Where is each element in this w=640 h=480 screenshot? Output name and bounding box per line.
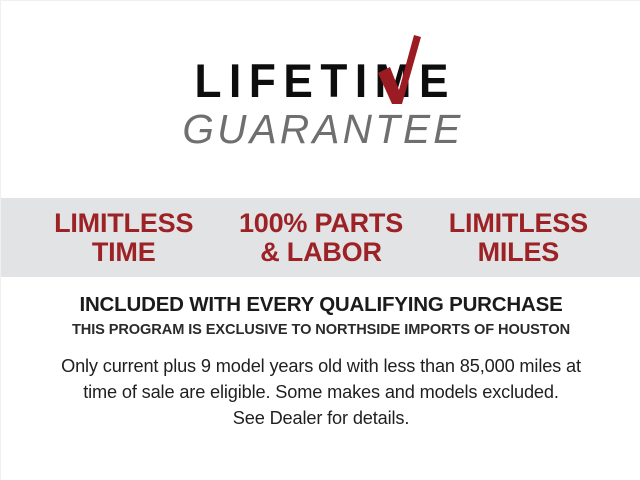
fineprint-line-1: Only current plus 9 model years old with…: [1, 354, 640, 380]
logo-lifetime-wrap: LIFETIME GUARANTEE: [178, 57, 465, 150]
benefit-line-1: LIMITLESS: [25, 209, 222, 237]
info-block: INCLUDED WITH EVERY QUALIFYING PURCHASE …: [1, 293, 640, 432]
benefit-column-parts-labor: 100% PARTS & LABOR: [222, 209, 419, 265]
benefit-line-1: 100% PARTS: [222, 209, 419, 237]
subheadline: THIS PROGRAM IS EXCLUSIVE TO NORTHSIDE I…: [1, 322, 640, 339]
fineprint: Only current plus 9 model years old with…: [1, 354, 640, 432]
benefit-line-2: & LABOR: [222, 238, 419, 266]
logo-primary-text: LIFETIME: [186, 57, 456, 104]
benefit-line-2: MILES: [420, 238, 617, 266]
benefit-column-limitless-time: LIMITLESS TIME: [25, 209, 222, 265]
logo-secondary-text: GUARANTEE: [179, 109, 463, 150]
fineprint-line-3: See Dealer for details.: [1, 406, 640, 432]
benefit-line-2: TIME: [25, 238, 222, 266]
fineprint-line-2: time of sale are eligible. Some makes an…: [1, 380, 640, 406]
headline: INCLUDED WITH EVERY QUALIFYING PURCHASE: [1, 293, 640, 317]
benefit-line-1: LIMITLESS: [420, 209, 617, 237]
benefit-band: LIMITLESS TIME 100% PARTS & LABOR LIMITL…: [1, 198, 640, 277]
logo-block: LIFETIME GUARANTEE: [1, 57, 640, 150]
benefit-column-limitless-miles: LIMITLESS MILES: [420, 209, 617, 265]
lifetime-guarantee-poster: LIFETIME GUARANTEE LIMITLESS TIME 100% P…: [0, 0, 640, 480]
